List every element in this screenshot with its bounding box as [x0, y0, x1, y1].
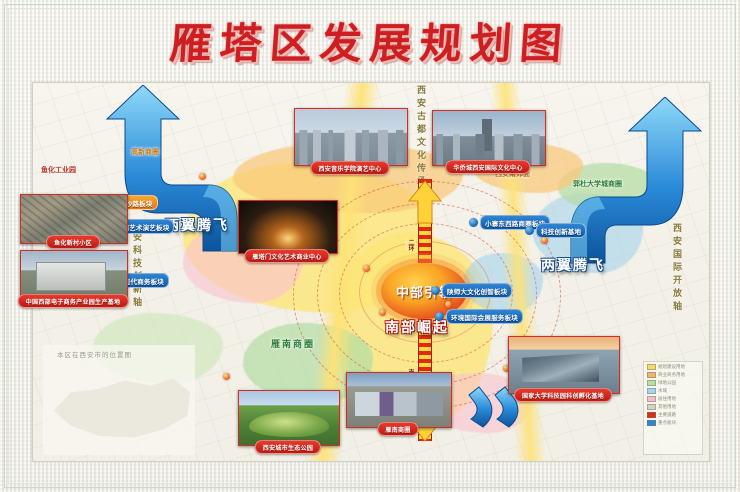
legend-row: 主要道路	[647, 412, 699, 418]
inset-title: 本区在西安市的位置图	[57, 349, 132, 359]
legend-label: 绿地公园	[658, 380, 676, 386]
label-text: 陕师大文化创智板块	[442, 283, 512, 298]
photo-caption-yuhua-new-village: 鱼化新村小区	[46, 235, 100, 249]
photo-caption-xian-hi-tech-industrial: 中国西部电子商务产业园生产基地	[18, 294, 129, 308]
legend-label: 主要道路	[658, 412, 676, 418]
axis-label-international-open: 西安国际开放轴	[671, 223, 684, 314]
photo-image	[239, 391, 339, 445]
map-marker-tech-base	[541, 237, 548, 244]
legend-row: 绿地公园	[647, 380, 699, 386]
road-ladder-north	[418, 179, 432, 263]
legend-label: 商业商务用地	[658, 372, 685, 378]
photo-image	[347, 373, 451, 427]
photo-xian-music-academy-center[interactable]	[294, 108, 408, 166]
photo-caption-national-university-sci-park: 国家大学科技园科创孵化基地	[514, 388, 612, 402]
bullet-dot-icon	[469, 218, 478, 227]
place-yannan-commercial: 雁南商圈	[271, 337, 315, 350]
bullet-dot-icon	[431, 286, 440, 295]
poster-root: 雁塔区发展规划图 西安科技创新轴 西安古都文化传承轴 西安国际开放轴 二环 一	[0, 0, 740, 492]
legend-swatch	[647, 364, 656, 370]
map-marker-east-ring	[445, 301, 452, 308]
inset-locator-map: 本区在西安市的位置图	[43, 345, 195, 455]
photo-xian-urban-ecological-park[interactable]	[238, 390, 340, 446]
photo-image	[509, 337, 619, 393]
legend-swatch	[647, 372, 656, 378]
label-tech-innovation-base[interactable]: 科技创新基地	[525, 223, 586, 238]
place-yuhua-industrial-park: 鱼化工业园	[41, 165, 76, 175]
legend-swatch	[647, 404, 656, 410]
map-legend: 规划建设用地 商业商务用地 绿地公园 水域 居住用地 其他用地	[643, 361, 703, 455]
label-text: 环境国际会展服务板块	[446, 309, 523, 324]
place-gaoxin-commercial: 高新商圈	[131, 147, 159, 157]
title-area: 雁塔区发展规划图	[0, 12, 740, 68]
bullet-dot-icon	[525, 226, 534, 235]
photo-oct-xian-intl-culture-center[interactable]	[432, 110, 546, 166]
legend-row: 水域	[647, 388, 699, 394]
photo-caption-yannan-commercial-complex: 雁南商圈	[377, 422, 418, 436]
legend-swatch	[647, 412, 656, 418]
legend-swatch	[647, 420, 656, 426]
map-marker-west-ring	[363, 265, 370, 272]
legend-row: 规划建设用地	[647, 364, 699, 370]
photo-yannan-commercial-complex[interactable]	[346, 372, 452, 428]
map-marker-southwest	[379, 309, 386, 316]
legend-row: 其他用地	[647, 404, 699, 410]
photo-caption-xian-music-academy-center: 西安音乐学院演艺中心	[310, 161, 389, 175]
label-intl-expo-service[interactable]: 环境国际会展服务板块	[435, 309, 523, 324]
legend-row: 商业商务用地	[647, 372, 699, 378]
bullet-dot-icon	[435, 312, 444, 321]
map-marker-yannan	[223, 373, 230, 380]
slogan-two-wings-left: 两翼腾飞	[165, 215, 229, 235]
inset-district-shape	[51, 367, 193, 451]
legend-swatch	[647, 396, 656, 402]
legend-row: 重点板块	[647, 420, 699, 426]
road-tag-second-ring: 二环	[405, 239, 416, 251]
poster-title: 雁塔区发展规划图	[168, 10, 572, 71]
legend-swatch	[647, 380, 656, 386]
label-text: 科技创新基地	[536, 223, 586, 238]
photo-tangyu-culture-art-center[interactable]	[238, 200, 338, 254]
legend-label: 水域	[658, 388, 667, 394]
legend-label: 居住用地	[658, 396, 676, 402]
place-guodu-university-town: 郭杜大学城商圈	[573, 179, 622, 189]
legend-label: 其他用地	[658, 404, 676, 410]
photo-image	[433, 111, 545, 165]
photo-national-university-sci-park[interactable]	[508, 336, 620, 394]
photo-image	[295, 109, 407, 165]
photo-caption-tangyu-culture-art-center: 雁塔门文化艺术商业中心	[244, 249, 329, 263]
photo-caption-xian-urban-ecological-park: 西安城市生态公园	[255, 440, 321, 454]
photo-caption-oct-xian-intl-culture-center: 华侨城西安国际文化中心	[445, 160, 530, 174]
slogan-two-wings-right: 两翼腾飞	[541, 255, 605, 275]
legend-row: 居住用地	[647, 396, 699, 402]
legend-swatch	[647, 388, 656, 394]
map-marker-yuhua	[199, 173, 206, 180]
legend-label: 重点板块	[658, 420, 676, 426]
label-shaanxi-normal-culture[interactable]: 陕师大文化创智板块	[431, 283, 512, 298]
legend-label: 规划建设用地	[658, 364, 685, 370]
photo-image	[239, 201, 337, 253]
